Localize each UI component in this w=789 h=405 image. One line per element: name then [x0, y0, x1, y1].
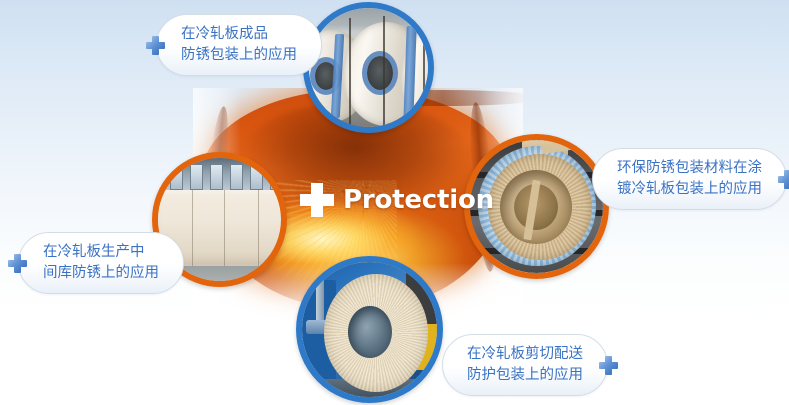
cover-seam [224, 190, 225, 266]
warehouse-window [190, 164, 203, 190]
coil-strap [423, 20, 425, 127]
coil-strap [349, 18, 351, 127]
photo-steel-coils [309, 8, 428, 127]
warehouse-window [230, 164, 243, 190]
coil-strap [383, 16, 385, 127]
callout-top[interactable]: 在冷轧板成品 防锈包装上的应用 [146, 14, 322, 76]
coil-bore [367, 56, 393, 90]
callout-right[interactable]: 环保防锈包装材料在涂 镀冷轧板包装上的应用 [592, 148, 789, 210]
plus-icon [146, 36, 165, 55]
callout-top-pill[interactable]: 在冷轧板成品 防锈包装上的应用 [156, 14, 322, 76]
callout-left[interactable]: 在冷轧板生产中 间库防锈上的应用 [8, 232, 184, 294]
protection-infographic: Protection [0, 0, 789, 405]
plus-icon [778, 170, 789, 189]
machine-shaft [316, 262, 324, 320]
callout-bottom-line-1: 在冷轧板剪切配送 [467, 344, 583, 365]
warehouse-window [170, 164, 183, 190]
callout-left-line-1: 在冷轧板生产中 [43, 242, 159, 263]
page-title: Protection [343, 187, 494, 213]
warehouse-window [270, 164, 281, 190]
callout-right-pill[interactable]: 环保防锈包装材料在涂 镀冷轧板包装上的应用 [592, 148, 787, 210]
cover-seam [192, 190, 193, 266]
callout-bottom[interactable]: 在冷轧板剪切配送 防护包装上的应用 [442, 334, 618, 396]
photo-wrapping-machine [302, 262, 437, 397]
coil-bore [348, 306, 392, 358]
plus-icon [599, 356, 618, 375]
callout-top-line-2: 防锈包装上的应用 [181, 45, 297, 66]
callout-top-line-1: 在冷轧板成品 [181, 24, 297, 45]
callout-left-line-2: 间库防锈上的应用 [43, 263, 159, 284]
cover-seam [258, 190, 259, 266]
plus-icon [8, 254, 27, 273]
callout-bottom-line-2: 防护包装上的应用 [467, 365, 583, 386]
callout-photo-top[interactable] [303, 2, 434, 133]
callout-bottom-pill[interactable]: 在冷轧板剪切配送 防护包装上的应用 [442, 334, 608, 396]
center-title-group: Protection [300, 183, 494, 217]
callout-left-pill[interactable]: 在冷轧板生产中 间库防锈上的应用 [18, 232, 184, 294]
warehouse-window [210, 164, 223, 190]
callout-photo-bottom[interactable] [296, 256, 443, 403]
warehouse-window [250, 164, 263, 190]
callout-right-line-2: 镀冷轧板包装上的应用 [617, 179, 762, 200]
plus-icon [300, 183, 334, 217]
callout-right-line-1: 环保防锈包装材料在涂 [617, 158, 762, 179]
